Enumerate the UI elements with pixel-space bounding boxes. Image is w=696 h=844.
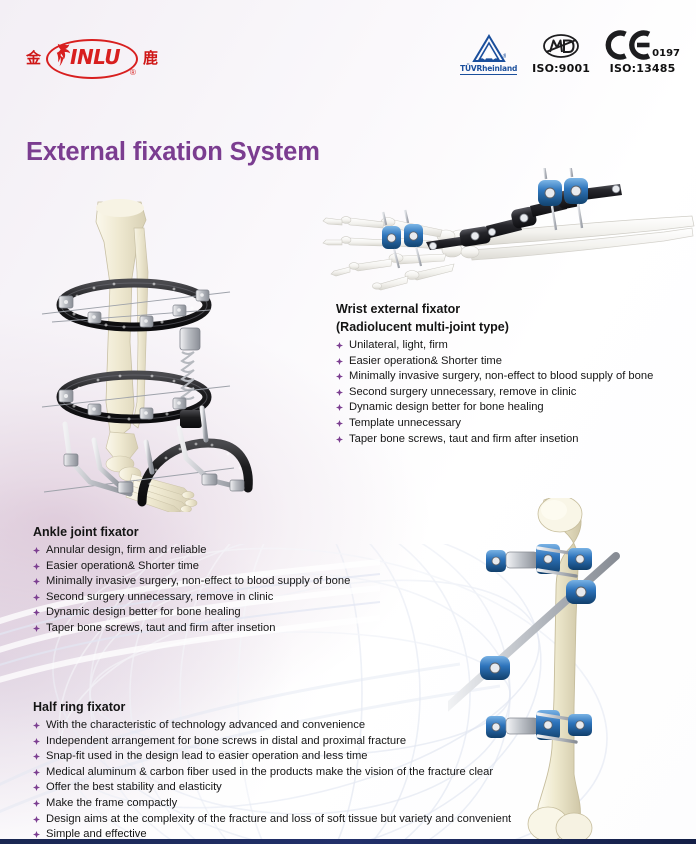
tuv-rheinland-icon: ® <box>472 33 506 63</box>
list-item: Design aims at the complexity of the fra… <box>33 812 511 828</box>
feature-text: Dynamic design better for bone healing <box>349 401 544 413</box>
cert-iso-9001: ISO:9001 <box>532 30 590 75</box>
product-title-line1: Half ring fixator <box>33 700 511 715</box>
ce-mark-icon: 0197 <box>605 30 680 60</box>
diamond-bullet-icon <box>33 578 40 585</box>
list-item: Taper bone screws, taut and firm after i… <box>33 621 350 637</box>
cert-iso-13485: 0197 ISO:13485 <box>605 30 680 75</box>
list-item: Dynamic design better for bone healing <box>336 400 653 416</box>
feature-text: Medical aluminum & carbon fiber used in … <box>46 766 493 778</box>
feature-text: Unilateral, light, firm <box>349 339 448 351</box>
cert-tuv-rheinland: ® TÜVRheinland <box>460 33 517 75</box>
logo-chinese-left: 金 <box>26 51 41 66</box>
list-item: Annular design, firm and reliable <box>33 543 350 559</box>
rod-to-rod-clamp-upper <box>566 580 596 604</box>
tuv-brand-label: TÜVRheinland <box>460 64 517 75</box>
svg-text:®: ® <box>502 53 506 60</box>
product-title-line1: Wrist external fixator <box>336 302 653 317</box>
jinlu-logo: 金 INLU ® 鹿 <box>26 36 158 82</box>
rod-to-rod-clamp-lower <box>480 656 510 680</box>
list-item: Dynamic design better for bone healing <box>33 605 350 621</box>
iso-9001-label: ISO:9001 <box>532 62 590 75</box>
diamond-bullet-icon <box>33 563 40 570</box>
list-item: Taper bone screws, taut and firm after i… <box>336 432 653 448</box>
diamond-bullet-icon <box>33 738 40 745</box>
feature-text: Snap-fit used in the design lead to easi… <box>46 750 368 762</box>
feature-list-ankle: Annular design, firm and reliable Easier… <box>33 543 350 637</box>
wrist-external-fixator-image <box>320 168 696 294</box>
list-item: Unilateral, light, firm <box>336 338 653 354</box>
iso-13485-label: ISO:13485 <box>610 62 676 75</box>
feature-text: Easier operation& Shorter time <box>349 355 502 367</box>
feature-text: With the characteristic of technology ad… <box>46 719 365 731</box>
md-circle-icon <box>541 30 581 60</box>
diagonal-rod <box>448 556 616 710</box>
diamond-bullet-icon <box>336 358 343 365</box>
diamond-bullet-icon <box>33 753 40 760</box>
list-item: Easier operation& Shorter time <box>336 354 653 370</box>
feature-text: Offer the best stability and elasticity <box>46 781 222 793</box>
diamond-bullet-icon <box>33 594 40 601</box>
diamond-bullet-icon <box>33 769 40 776</box>
page-title: External fixation System <box>26 138 320 167</box>
feature-text: Dynamic design better for bone healing <box>46 606 241 618</box>
list-item: Independent arrangement for bone screws … <box>33 734 511 750</box>
feature-text: Make the frame compactly <box>46 797 177 809</box>
list-item: Easier operation& Shorter time <box>33 559 350 575</box>
diamond-bullet-icon <box>33 722 40 729</box>
list-item: With the characteristic of technology ad… <box>33 718 511 734</box>
feature-text: Template unnecessary <box>349 417 461 429</box>
list-item: Second surgery unnecessary, remove in cl… <box>336 385 653 401</box>
diamond-bullet-icon <box>336 436 343 443</box>
brochure-page: 金 INLU ® 鹿 ® TÜVRhei <box>0 0 696 844</box>
list-item: Snap-fit used in the design lead to easi… <box>33 749 511 765</box>
diamond-bullet-icon <box>33 800 40 807</box>
diamond-bullet-icon <box>33 547 40 554</box>
feature-text: Minimally invasive surgery, non-effect t… <box>46 575 350 587</box>
feature-list-wrist: Unilateral, light, firm Easier operation… <box>336 338 653 447</box>
bottom-accent-bar <box>0 839 696 844</box>
feature-text: Second surgery unnecessary, remove in cl… <box>46 591 273 603</box>
list-item: Minimally invasive surgery, non-effect t… <box>336 369 653 385</box>
product-title-line2: (Radiolucent multi-joint type) <box>336 320 653 335</box>
list-item: Minimally invasive surgery, non-effect t… <box>33 574 350 590</box>
diamond-bullet-icon <box>336 342 343 349</box>
certification-marks: ® TÜVRheinland ISO:9001 <box>460 30 680 75</box>
feature-text: Annular design, firm and reliable <box>46 544 206 556</box>
logo-wordmark: INLU <box>70 47 120 67</box>
diamond-bullet-icon <box>336 404 343 411</box>
diamond-bullet-icon <box>33 784 40 791</box>
feature-text: Design aims at the complexity of the fra… <box>46 813 511 825</box>
ce-notified-body-number: 0197 <box>652 48 680 59</box>
ankle-joint-fixator-image <box>34 192 264 512</box>
product-block-wrist-external-fixator: Wrist external fixator (Radiolucent mult… <box>336 302 653 447</box>
product-block-ankle-joint-fixator: Ankle joint fixator Annular design, firm… <box>33 525 350 637</box>
diamond-bullet-icon <box>336 420 343 427</box>
feature-list-half-ring: With the characteristic of technology ad… <box>33 718 511 843</box>
list-item: Make the frame compactly <box>33 796 511 812</box>
page-header: 金 INLU ® 鹿 ® TÜVRhei <box>0 0 696 104</box>
logo-registered-mark: ® <box>130 69 136 77</box>
feature-text: Independent arrangement for bone screws … <box>46 735 406 747</box>
feature-text: Second surgery unnecessary, remove in cl… <box>349 386 576 398</box>
list-item: Offer the best stability and elasticity <box>33 780 511 796</box>
diamond-bullet-icon <box>336 373 343 380</box>
logo-chinese-right: 鹿 <box>143 51 158 66</box>
feature-text: Taper bone screws, taut and firm after i… <box>349 433 578 445</box>
diamond-bullet-icon <box>336 389 343 396</box>
product-title-line1: Ankle joint fixator <box>33 525 350 540</box>
diamond-bullet-icon <box>33 831 40 838</box>
feature-text: Minimally invasive surgery, non-effect t… <box>349 370 653 382</box>
diamond-bullet-icon <box>33 609 40 616</box>
list-item: Medical aluminum & carbon fiber used in … <box>33 765 511 781</box>
feature-text: Taper bone screws, taut and firm after i… <box>46 622 275 634</box>
diamond-bullet-icon <box>33 625 40 632</box>
diamond-bullet-icon <box>33 816 40 823</box>
list-item: Second surgery unnecessary, remove in cl… <box>33 590 350 606</box>
feature-text: Easier operation& Shorter time <box>46 560 199 572</box>
list-item: Template unnecessary <box>336 416 653 432</box>
product-block-half-ring-fixator: Half ring fixator With the characteristi… <box>33 700 511 843</box>
